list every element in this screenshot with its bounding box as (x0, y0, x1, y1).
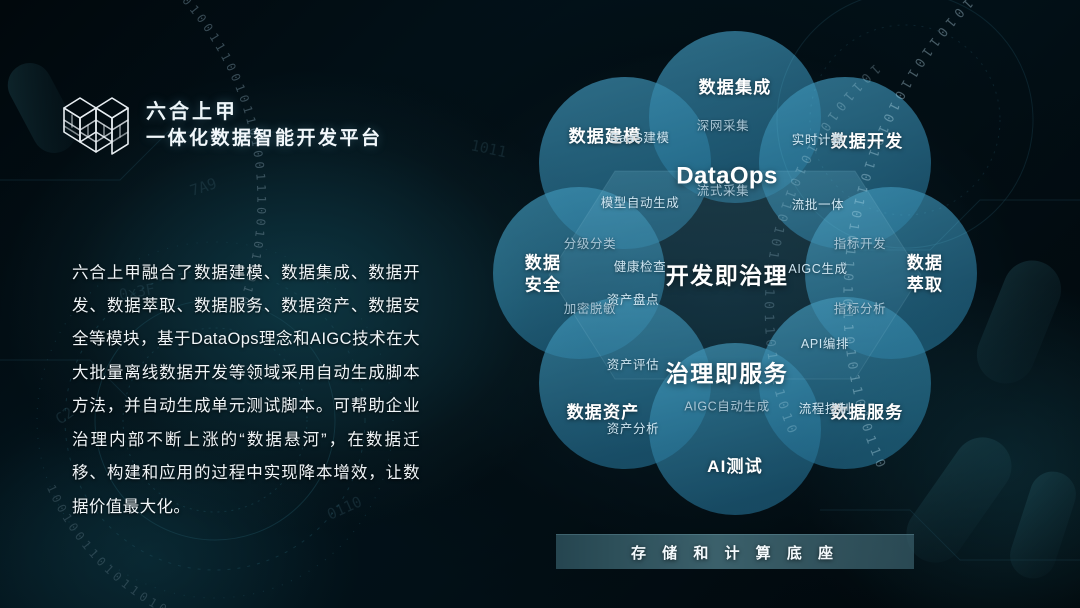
venn-circles (455, 25, 1015, 545)
storage-compute-base-bar: 存 储 和 计 算 底 座 (556, 534, 914, 569)
center-hexagon (549, 171, 921, 379)
brand-text: 六合上甲 一体化数据智能开发平台 (146, 101, 383, 151)
brand-panel: 六合上甲 一体化数据智能开发平台 (60, 88, 420, 164)
base-bar-label: 存 储 和 计 算 底 座 (631, 542, 839, 563)
brand-name: 六合上甲 (146, 101, 383, 124)
slide-canvas: 0110101101101010110110101101011010110101… (0, 0, 1080, 608)
svg-text:7A9: 7A9 (188, 174, 219, 199)
product-description: 六合上甲融合了数据建模、数据集成、数据开发、数据萃取、数据服务、数据资产、数据安… (72, 257, 420, 525)
brand-tagline: 一体化数据智能开发平台 (146, 128, 383, 151)
isometric-brick-logo-icon (60, 88, 132, 164)
dataops-venn-diagram: 数据集成 数据建模 数据开发 数据 安全 数据 萃取 数据资产 数据服务 AI测… (455, 25, 1015, 545)
brand-row: 六合上甲 一体化数据智能开发平台 (60, 88, 420, 164)
